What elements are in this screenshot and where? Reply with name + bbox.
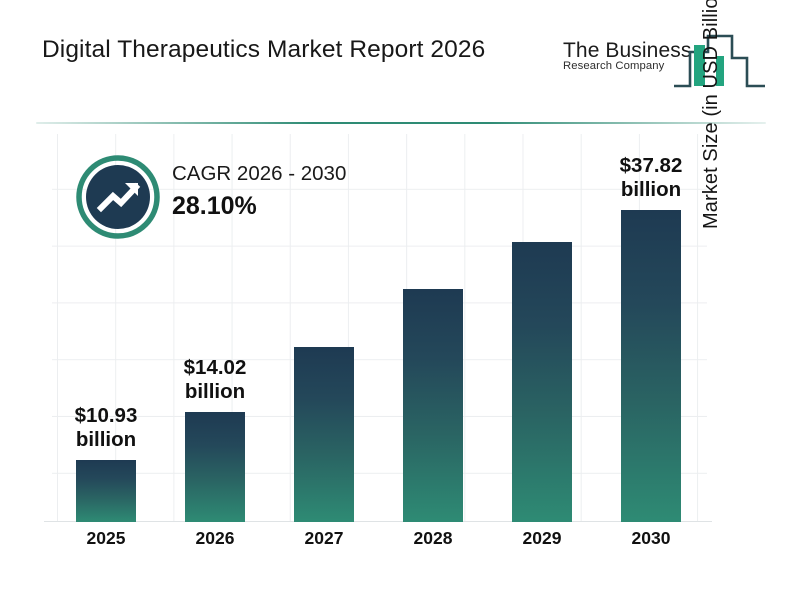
logo-wordmark: The Business Research Company bbox=[563, 40, 685, 73]
bar-value-unit-2026: billion bbox=[184, 380, 247, 404]
bar-2028[interactable] bbox=[403, 289, 463, 522]
cagr-badge: CAGR 2026 - 2030 28.10% bbox=[76, 155, 396, 245]
y-axis-title: Market Size (in USD Billion) bbox=[700, 0, 734, 229]
cagr-text-block: CAGR 2026 - 2030 28.10% bbox=[172, 161, 392, 220]
x-tick-2027: 2027 bbox=[270, 528, 378, 549]
bar-value-amount-2026: $14.02 bbox=[184, 356, 247, 380]
bar-value-label-2025: $10.93 billion bbox=[75, 404, 138, 452]
trending-up-icon bbox=[76, 155, 160, 239]
bar-2027[interactable] bbox=[294, 347, 354, 522]
x-tick-2029: 2029 bbox=[488, 528, 596, 549]
bar-group-2030: $37.82 billion bbox=[597, 134, 705, 522]
x-tick-2030: 2030 bbox=[597, 528, 705, 549]
bar-group-2029 bbox=[488, 134, 596, 522]
infographic-canvas: Digital Therapeutics Market Report 2026 … bbox=[0, 0, 800, 600]
bar-2025[interactable] bbox=[76, 460, 136, 522]
logo-line-primary: The Business bbox=[563, 40, 685, 61]
company-logo: The Business Research Company bbox=[563, 28, 768, 100]
header-divider bbox=[36, 122, 766, 124]
page-title: Digital Therapeutics Market Report 2026 bbox=[42, 36, 485, 64]
cagr-value-label: 28.10% bbox=[172, 193, 392, 221]
bar-2029[interactable] bbox=[512, 242, 572, 522]
x-tick-2026: 2026 bbox=[161, 528, 269, 549]
header: Digital Therapeutics Market Report 2026 … bbox=[0, 0, 800, 118]
x-tick-2025: 2025 bbox=[52, 528, 160, 549]
bar-value-amount-2025: $10.93 bbox=[75, 404, 138, 428]
bar-value-amount-2030: $37.82 bbox=[620, 154, 683, 178]
cagr-period-label: CAGR 2026 - 2030 bbox=[172, 161, 392, 187]
x-tick-2028: 2028 bbox=[379, 528, 487, 549]
bar-value-unit-2025: billion bbox=[75, 428, 138, 452]
bar-2026[interactable] bbox=[185, 412, 245, 522]
bar-value-label-2030: $37.82 billion bbox=[620, 154, 683, 202]
bar-2030[interactable] bbox=[621, 210, 681, 522]
bar-value-label-2026: $14.02 billion bbox=[184, 356, 247, 404]
x-axis: 2025 2026 2027 2028 2029 2030 bbox=[52, 528, 707, 562]
bar-value-unit-2030: billion bbox=[620, 178, 683, 202]
logo-line-secondary: Research Company bbox=[563, 61, 685, 73]
